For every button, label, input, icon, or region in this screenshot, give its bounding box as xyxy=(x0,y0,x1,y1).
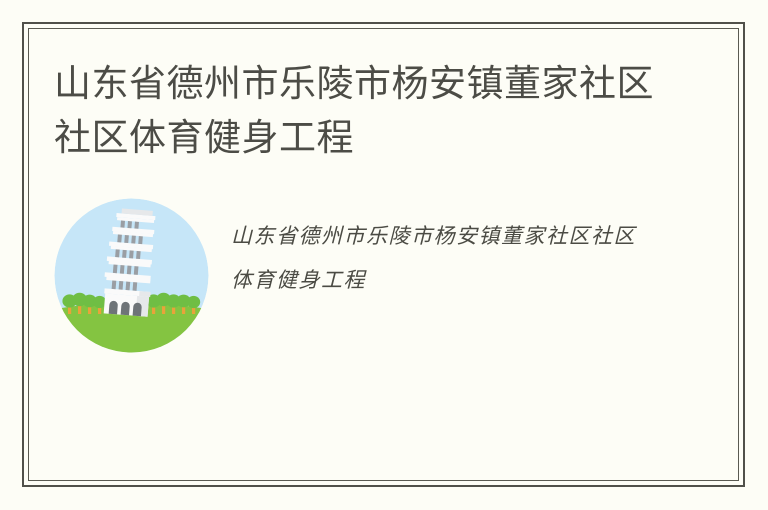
page-root: 山东省德州市乐陵市杨安镇董家社区社区体育健身工程 xyxy=(0,0,768,510)
leaning-tower-of-pisa-icon xyxy=(54,198,209,353)
illustration-container xyxy=(54,198,209,353)
page-title: 山东省德州市乐陵市杨安镇董家社区社区体育健身工程 xyxy=(54,57,674,165)
body-description-text: 山东省德州市乐陵市杨安镇董家社区社区体育健身工程 xyxy=(231,214,651,302)
content-row: 山东省德州市乐陵市杨安镇董家社区社区体育健身工程 xyxy=(54,198,694,353)
